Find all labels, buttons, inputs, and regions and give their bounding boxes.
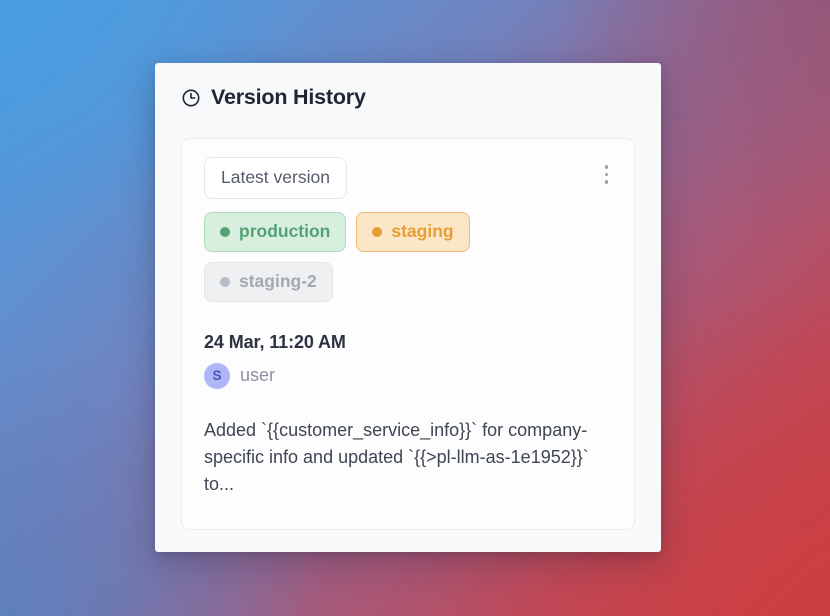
card-header: Version History — [155, 63, 661, 109]
version-entry-panel: Latest version production staging stagin… — [181, 138, 635, 530]
clock-history-icon — [181, 88, 201, 108]
kebab-dot — [605, 173, 609, 177]
kebab-dot — [605, 180, 609, 184]
status-badge-label: staging — [391, 221, 453, 243]
version-timestamp: 24 Mar, 11:20 AM — [204, 332, 612, 353]
environment-badges: production staging staging-2 — [204, 212, 504, 302]
version-history-card: Version History Latest version productio… — [155, 63, 661, 552]
status-badge-label: staging-2 — [239, 271, 317, 293]
status-badge-label: production — [239, 221, 330, 243]
status-dot-icon — [220, 227, 230, 237]
status-badge-staging[interactable]: staging — [356, 212, 469, 252]
author-name: user — [240, 365, 275, 386]
status-badge-staging-2[interactable]: staging-2 — [204, 262, 333, 302]
author-row: S user — [204, 363, 612, 389]
version-description: Added `{{customer_service_info}}` for co… — [204, 417, 612, 499]
page-title: Version History — [211, 87, 366, 109]
status-dot-icon — [220, 277, 230, 287]
status-dot-icon — [372, 227, 382, 237]
version-row: Latest version — [204, 157, 612, 199]
status-badge-production[interactable]: production — [204, 212, 346, 252]
kebab-dot — [605, 165, 609, 169]
avatar: S — [204, 363, 230, 389]
version-label-pill[interactable]: Latest version — [204, 157, 347, 199]
kebab-menu-icon[interactable] — [599, 157, 615, 184]
